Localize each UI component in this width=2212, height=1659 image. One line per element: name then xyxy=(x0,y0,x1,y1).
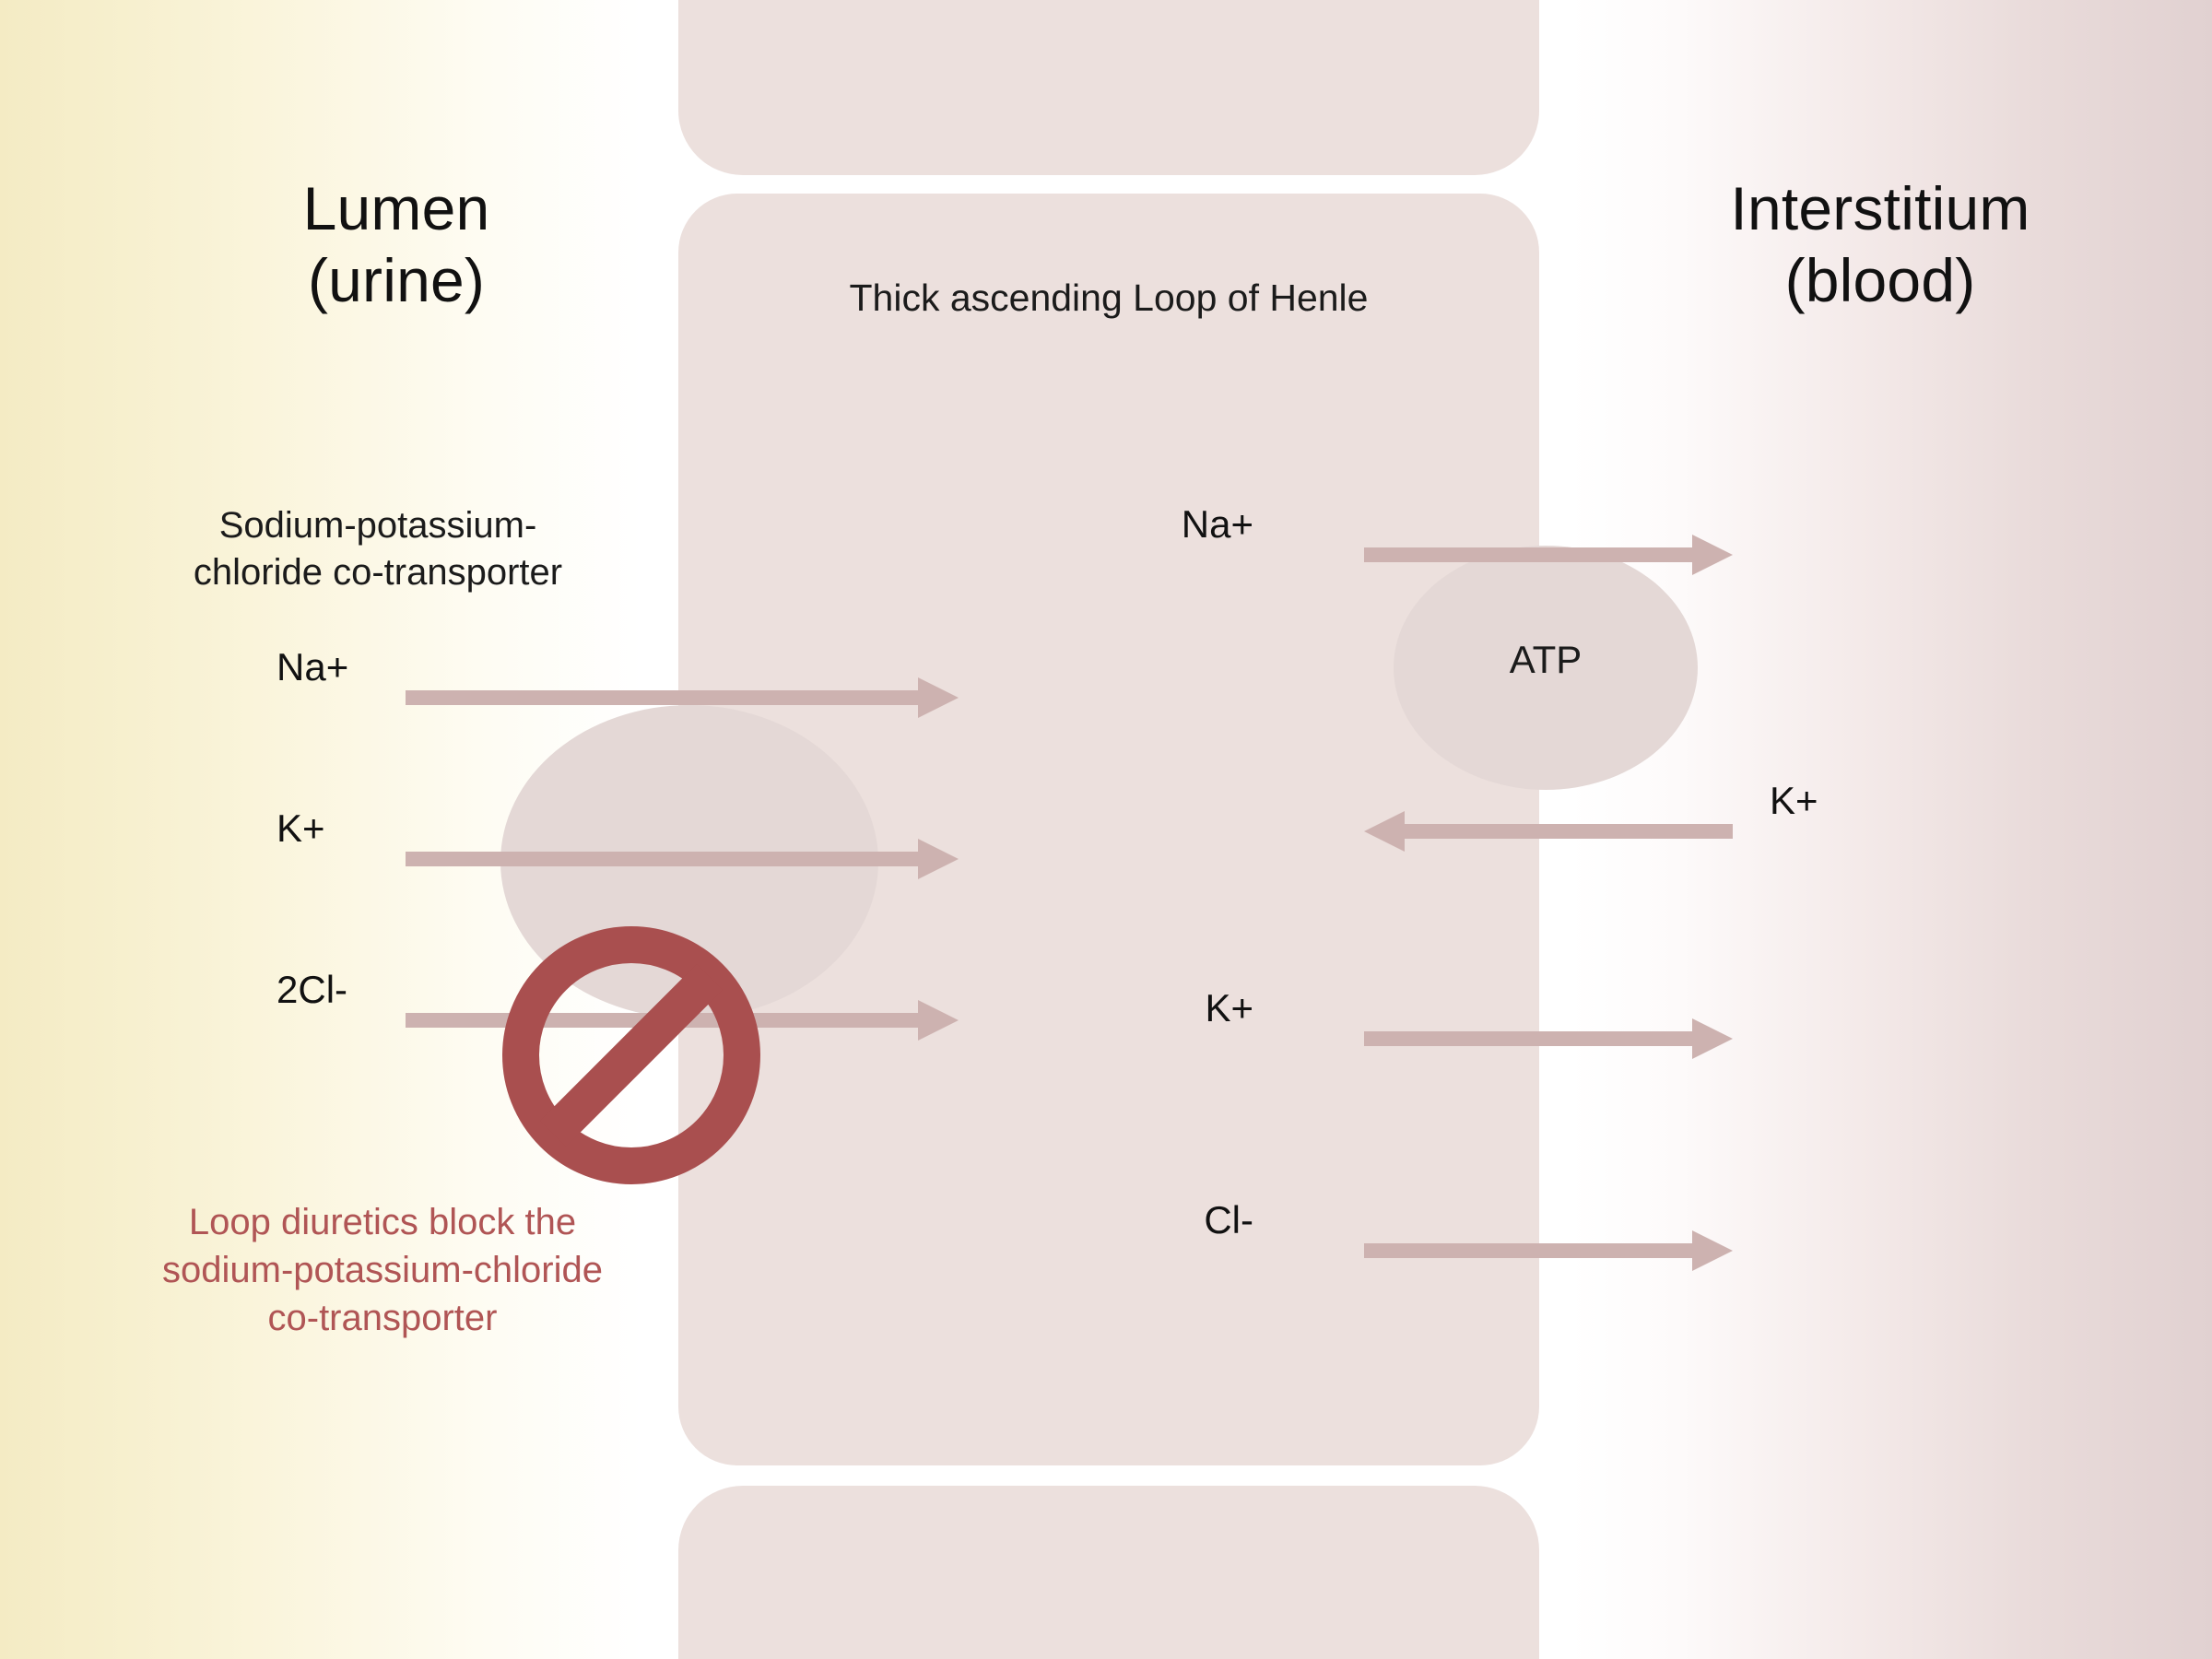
lumen-arrow-k-right xyxy=(406,839,959,879)
interstitium-ion-label-k-out: K+ xyxy=(1124,986,1253,1030)
tubule-cell-below xyxy=(678,1486,1539,1659)
lumen-ion-label-na: Na+ xyxy=(276,645,396,689)
interstitium-ion-label-k-in: K+ xyxy=(1770,779,1917,823)
interstitium-arrow-cl-right xyxy=(1364,1230,1733,1271)
lumen-ion-label-cl: 2Cl- xyxy=(276,968,415,1012)
loop-diuretic-block-caption: Loop diuretics block the sodium-potassiu… xyxy=(55,1198,710,1342)
interstitium-arrow-na-right xyxy=(1364,535,1733,575)
interstitium-heading: Interstitium (blood) xyxy=(1604,173,2157,317)
nkcc-transporter-caption: Sodium-potassium- chloride co-transporte… xyxy=(101,502,654,596)
diagram-canvas: Lumen (urine) Interstitium (blood) Thick… xyxy=(0,0,2212,1659)
lumen-ion-label-k: K+ xyxy=(276,806,396,851)
atp-label: ATP xyxy=(1394,638,1698,682)
cell-heading: Thick ascending Loop of Henle xyxy=(678,276,1539,320)
lumen-arrow-na-right xyxy=(406,677,959,718)
interstitium-ion-label-cl: Cl- xyxy=(1124,1198,1253,1242)
tubule-cell-above xyxy=(678,0,1539,175)
interstitium-arrow-k-right xyxy=(1364,1018,1733,1059)
interstitium-arrow-k-left xyxy=(1364,811,1733,852)
interstitium-ion-label-na: Na+ xyxy=(1106,502,1253,547)
lumen-heading: Lumen (urine) xyxy=(138,173,654,317)
prohibition-sign-icon xyxy=(502,926,760,1184)
